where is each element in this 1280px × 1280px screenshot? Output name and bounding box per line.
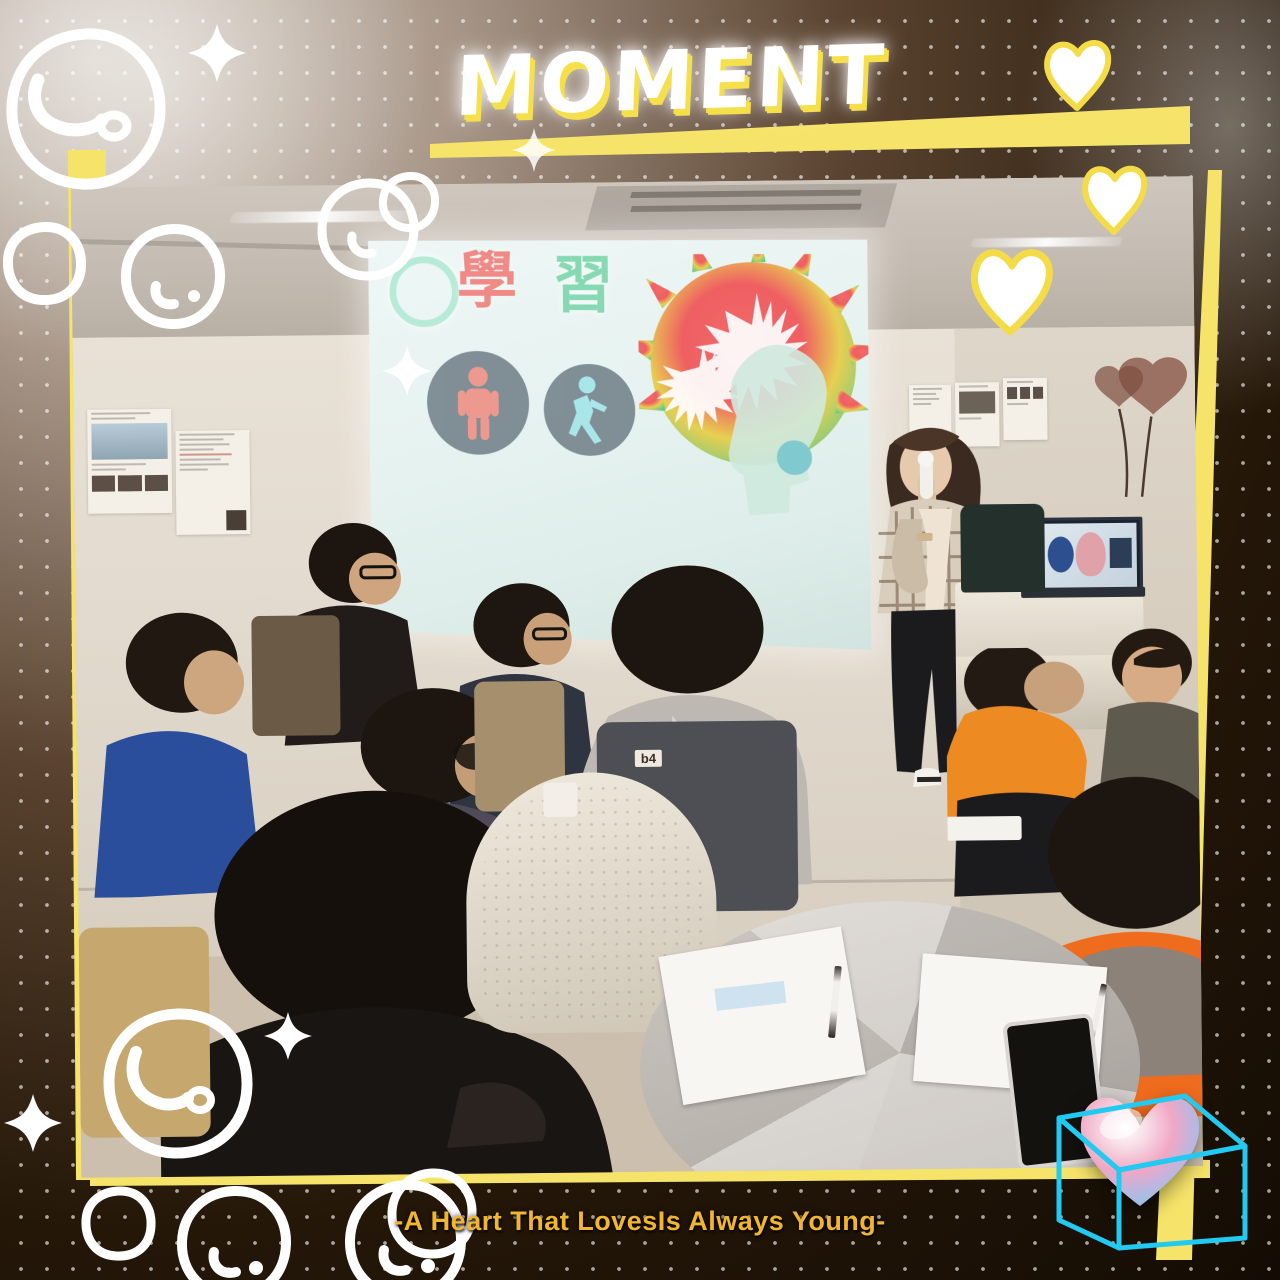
photo-card: 學 習 — [0, 0, 1280, 1280]
slide-ring-decoration — [389, 256, 459, 327]
cup — [543, 783, 577, 817]
slide-heading-char-1: 學 — [456, 250, 517, 311]
wall-poster — [87, 409, 172, 514]
ceiling-light — [971, 237, 1123, 248]
caption-text: -A Heart That LovesIs Always Young- — [0, 1206, 1280, 1237]
chair — [251, 615, 340, 736]
ceiling-light — [229, 210, 413, 223]
chair-label: b4 — [635, 750, 662, 767]
black-chair-back — [960, 504, 1045, 593]
chair-tan — [79, 926, 211, 1137]
standing-person-icon — [427, 351, 530, 456]
walking-person-icon — [543, 364, 635, 457]
wall-poster — [175, 430, 250, 535]
page-title: MOMENT — [453, 28, 888, 135]
slide-heading-char-2: 習 — [552, 254, 614, 316]
event-photo: 學 習 — [71, 176, 1203, 1178]
